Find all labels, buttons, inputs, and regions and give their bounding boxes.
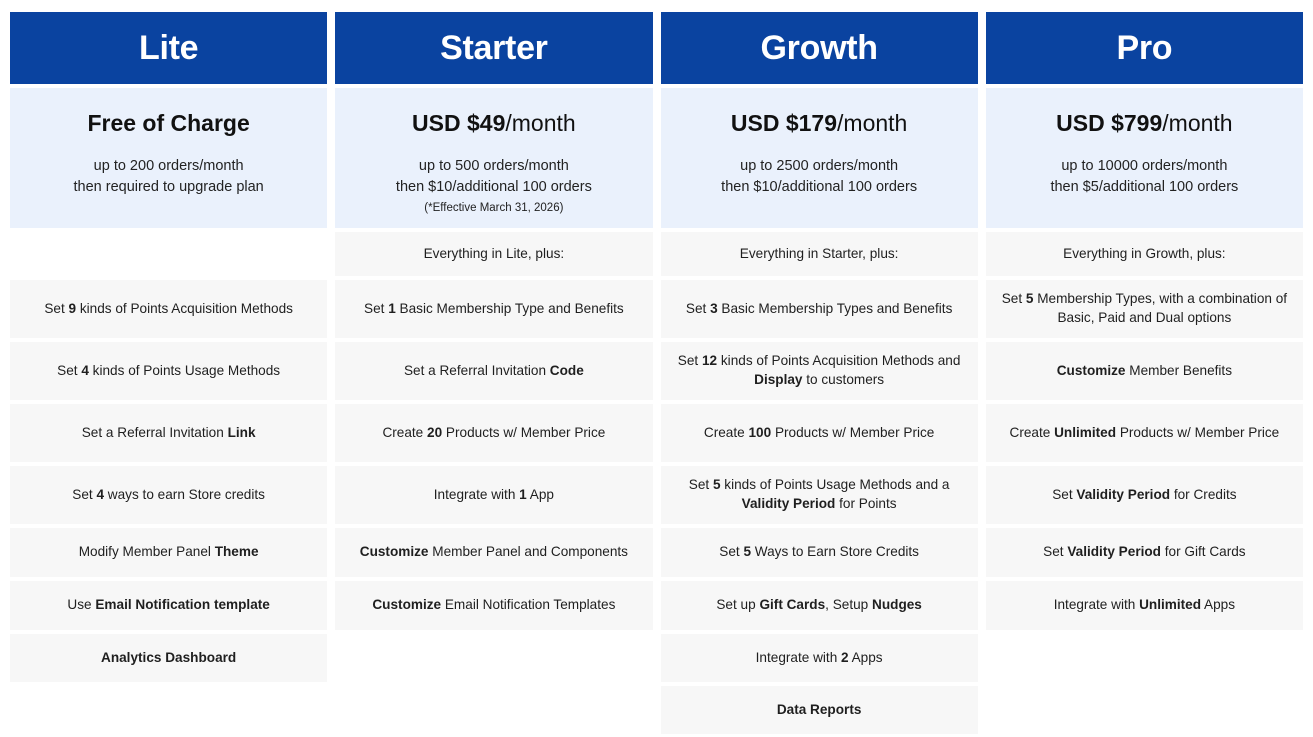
feature-cell: Customize Member Panel and Components: [335, 528, 652, 577]
feature-text: Customize Member Panel and Components: [360, 543, 628, 562]
plan-header-growth: Growth: [661, 12, 978, 84]
feature-text: Set 1 Basic Membership Type and Benefits: [364, 300, 624, 319]
plan-header-starter: Starter: [335, 12, 652, 84]
feature-cell: Integrate with Unlimited Apps: [986, 581, 1303, 630]
feature-cell: Set 5 Membership Types, with a combinati…: [986, 280, 1303, 338]
plan-order-limit: up to 2500 orders/month: [740, 156, 898, 178]
plan-order-limit: up to 500 orders/month: [419, 156, 569, 178]
plan-column-pro: ProUSD $799/monthup to 10000 orders/mont…: [986, 12, 1303, 630]
plan-name: Pro: [1116, 29, 1172, 68]
feature-cell: Create Unlimited Products w/ Member Pric…: [986, 404, 1303, 462]
feature-text: Create 20 Products w/ Member Price: [382, 424, 605, 443]
plan-price-band: USD $49/monthup to 500 orders/monththen …: [335, 88, 652, 228]
plan-order-limit: up to 200 orders/month: [94, 156, 244, 178]
plan-name: Starter: [440, 29, 548, 68]
feature-text: Modify Member Panel Theme: [79, 543, 259, 562]
feature-text: Customize Member Benefits: [1057, 362, 1232, 381]
feature-cell: Set 12 kinds of Points Acquisition Metho…: [661, 342, 978, 400]
feature-text: Use Email Notification template: [67, 596, 269, 615]
everything-in-label: Everything in Starter, plus:: [740, 245, 899, 264]
plan-overage-note: then $10/additional 100 orders: [396, 177, 592, 199]
feature-text: Set 4 kinds of Points Usage Methods: [57, 362, 280, 381]
plan-price-band: Free of Chargeup to 200 orders/monththen…: [10, 88, 327, 228]
feature-text: Set 12 kinds of Points Acquisition Metho…: [671, 352, 968, 390]
everything-in-label: Everything in Lite, plus:: [424, 245, 565, 264]
plan-price-amount: Free of Charge: [87, 110, 249, 136]
plan-overage-note: then $5/additional 100 orders: [1050, 177, 1238, 199]
feature-cell: Set a Referral Invitation Link: [10, 404, 327, 462]
plan-price-period: /month: [505, 110, 575, 136]
plan-price: USD $49/month: [412, 110, 576, 138]
everything-in-row: Everything in Growth, plus:: [986, 232, 1303, 276]
feature-text: Create 100 Products w/ Member Price: [704, 424, 934, 443]
plan-column-lite: LiteFree of Chargeup to 200 orders/month…: [10, 12, 327, 682]
feature-cell: Set a Referral Invitation Code: [335, 342, 652, 400]
feature-text: Set 9 kinds of Points Acquisition Method…: [44, 300, 293, 319]
feature-cell: Analytics Dashboard: [10, 634, 327, 682]
everything-in-row: [10, 232, 327, 276]
feature-text: Set a Referral Invitation Code: [404, 362, 584, 381]
feature-cell: Set up Gift Cards, Setup Nudges: [661, 581, 978, 630]
plan-price: USD $179/month: [731, 110, 907, 138]
everything-in-label: Everything in Growth, plus:: [1063, 245, 1225, 264]
feature-cell: Set Validity Period for Gift Cards: [986, 528, 1303, 577]
plan-overage-note: then $10/additional 100 orders: [721, 177, 917, 199]
feature-cell: Set 4 kinds of Points Usage Methods: [10, 342, 327, 400]
feature-cell: Set 5 Ways to Earn Store Credits: [661, 528, 978, 577]
plan-price-amount: USD $179: [731, 110, 837, 136]
feature-cell: Set 1 Basic Membership Type and Benefits: [335, 280, 652, 338]
pricing-table: LiteFree of Chargeup to 200 orders/month…: [0, 0, 1313, 734]
plan-price: Free of Charge: [87, 110, 249, 138]
feature-text: Set Validity Period for Credits: [1052, 486, 1236, 505]
feature-text: Integrate with 1 App: [434, 486, 554, 505]
feature-cell: Use Email Notification template: [10, 581, 327, 630]
feature-cell: Set 9 kinds of Points Acquisition Method…: [10, 280, 327, 338]
feature-text: Set 5 Ways to Earn Store Credits: [719, 543, 919, 562]
feature-text: Set 3 Basic Membership Types and Benefit…: [686, 300, 953, 319]
plan-column-starter: StarterUSD $49/monthup to 500 orders/mon…: [335, 12, 652, 630]
feature-text: Integrate with Unlimited Apps: [1054, 596, 1235, 615]
everything-in-row: Everything in Lite, plus:: [335, 232, 652, 276]
feature-text: Create Unlimited Products w/ Member Pric…: [1010, 424, 1280, 443]
feature-cell: Customize Email Notification Templates: [335, 581, 652, 630]
feature-text: Set a Referral Invitation Link: [82, 424, 256, 443]
feature-text: Customize Email Notification Templates: [372, 596, 615, 615]
feature-cell: Data Reports: [661, 686, 978, 734]
plan-price-band: USD $179/monthup to 2500 orders/monththe…: [661, 88, 978, 228]
plan-price: USD $799/month: [1056, 110, 1232, 138]
plan-order-limit: up to 10000 orders/month: [1061, 156, 1227, 178]
plan-price-band: USD $799/monthup to 10000 orders/monthth…: [986, 88, 1303, 228]
feature-text: Set up Gift Cards, Setup Nudges: [716, 596, 922, 615]
feature-text: Data Reports: [777, 701, 862, 720]
everything-in-row: Everything in Starter, plus:: [661, 232, 978, 276]
plan-price-period: /month: [1162, 110, 1232, 136]
feature-text: Analytics Dashboard: [101, 649, 236, 668]
feature-text: Set 4 ways to earn Store credits: [72, 486, 265, 505]
plan-name: Growth: [761, 29, 878, 68]
feature-cell: Integrate with 2 Apps: [661, 634, 978, 682]
plan-name: Lite: [139, 29, 198, 68]
plan-price-amount: USD $49: [412, 110, 505, 136]
feature-cell: Create 20 Products w/ Member Price: [335, 404, 652, 462]
feature-text: Set 5 Membership Types, with a combinati…: [996, 290, 1293, 328]
plan-header-pro: Pro: [986, 12, 1303, 84]
feature-cell: Set 3 Basic Membership Types and Benefit…: [661, 280, 978, 338]
feature-text: Set Validity Period for Gift Cards: [1043, 543, 1245, 562]
plan-column-growth: GrowthUSD $179/monthup to 2500 orders/mo…: [661, 12, 978, 734]
plan-fineprint: (*Effective March 31, 2026): [424, 200, 563, 216]
plan-overage-note: then required to upgrade plan: [73, 177, 263, 199]
feature-cell: Integrate with 1 App: [335, 466, 652, 524]
feature-cell: Modify Member Panel Theme: [10, 528, 327, 577]
feature-text: Integrate with 2 Apps: [756, 649, 883, 668]
feature-cell: Set Validity Period for Credits: [986, 466, 1303, 524]
plan-header-lite: Lite: [10, 12, 327, 84]
feature-cell: Create 100 Products w/ Member Price: [661, 404, 978, 462]
feature-cell: Set 5 kinds of Points Usage Methods and …: [661, 466, 978, 524]
feature-text: Set 5 kinds of Points Usage Methods and …: [671, 476, 968, 514]
plan-price-period: /month: [837, 110, 907, 136]
feature-cell: Set 4 ways to earn Store credits: [10, 466, 327, 524]
feature-cell: Customize Member Benefits: [986, 342, 1303, 400]
plan-price-amount: USD $799: [1056, 110, 1162, 136]
